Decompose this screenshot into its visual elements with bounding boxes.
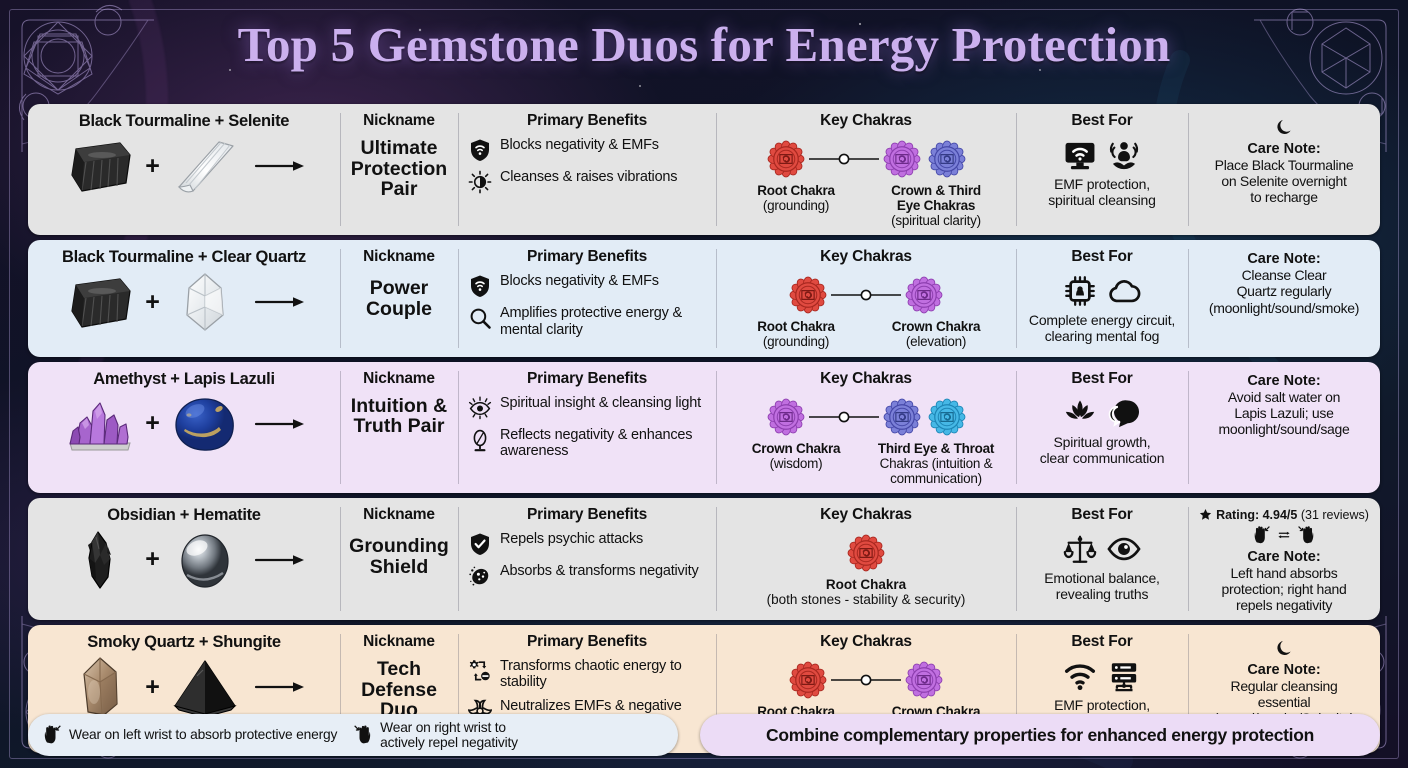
nickname-value: UltimateProtectionPair (346, 138, 452, 200)
wifi-icon (1063, 659, 1097, 693)
chakras-header: Key Chakras (722, 370, 1010, 388)
benefits-header: Primary Benefits (464, 370, 710, 388)
chakra-diagram (722, 135, 1010, 183)
radiant-eye-icon (468, 396, 492, 420)
duo-title: Amethyst + Lapis Lazuli (34, 370, 334, 389)
duo-rows: Black Tourmaline + Selenite + Nickname U… (28, 104, 1380, 758)
benefit-text: Blocks negativity & EMFs (500, 137, 659, 153)
lotus-icon (1063, 396, 1097, 430)
benefit-text: Reflects negativity & enhances awareness (500, 427, 710, 459)
benefit-item: Transforms chaotic energy to stability (464, 658, 710, 690)
root-chakra-icon (765, 138, 807, 180)
gem-obsidian (62, 529, 138, 591)
crown-chakra-icon (903, 274, 945, 316)
chakra-label-left: Root Chakra(grounding) (726, 183, 866, 228)
crown-chakra-icon (881, 138, 923, 180)
footer-cta: Combine complementary properties for enh… (700, 714, 1380, 756)
sponge-icon (468, 564, 492, 588)
moon-icon (1275, 639, 1294, 658)
radiant-eye-icon (468, 396, 492, 420)
best-for-text: EMF protection,spiritual cleansing (1022, 177, 1182, 209)
best-for-header: Best For (1022, 370, 1182, 388)
arrow-right-icon (254, 294, 306, 310)
benefit-item: Blocks negativity & EMFs (464, 273, 710, 298)
server-icon (1107, 659, 1141, 693)
moon-icon (1275, 118, 1294, 137)
chakra-connector (829, 673, 903, 687)
stone-pair: + (34, 393, 334, 455)
crown-chakra-icon (903, 659, 945, 701)
root-chakra-icon (787, 659, 829, 701)
care-note: Care Note: Avoid salt water onLapis Lazu… (1194, 370, 1374, 437)
page-title: Top 5 Gemstone Duos for Energy Protectio… (0, 16, 1408, 73)
duo-cell-care-note: Care Note: Cleanse ClearQuartz regularly… (1188, 240, 1380, 356)
benefit-text: Absorbs & transforms negativity (500, 563, 699, 579)
sponge-icon (468, 564, 492, 588)
care-note-text: Place Black Tourmalineon Selenite overni… (1194, 157, 1374, 205)
gem-hematite (167, 529, 243, 591)
root-chakra-icon (765, 138, 807, 180)
benefit-text: Cleanses & raises vibrations (500, 169, 677, 185)
benefit-text: Spiritual insight & cleansing light (500, 395, 701, 411)
chakra-label-left: Root Chakra(grounding) (726, 319, 866, 349)
duo-cell-best-for: Best For EMF protection,spiritual cleans… (1016, 104, 1188, 235)
footer-tips: Wear on left wrist to absorb protective … (28, 714, 678, 756)
arrow-right-icon (254, 158, 306, 174)
chakra-labels: Root Chakra(grounding) Crown Chakra(elev… (722, 319, 1010, 349)
care-note-label: Care Note: (1194, 662, 1374, 678)
care-note-text: Left hand absorbsprotection; right handr… (1194, 565, 1374, 613)
benefit-item: Absorbs & transforms negativity (464, 563, 710, 588)
best-for-text: Emotional balance,revealing truths (1022, 571, 1182, 603)
care-note-label: Care Note: (1194, 373, 1374, 389)
footer: Wear on left wrist to absorb protective … (28, 714, 1380, 756)
benefit-item: Spiritual insight & cleansing light (464, 395, 710, 420)
infographic-canvas: Top 5 Gemstone Duos for Energy Protectio… (0, 0, 1408, 768)
care-icons (1194, 635, 1374, 661)
care-note-label: Care Note: (1194, 549, 1374, 565)
moon-icon (1275, 118, 1294, 137)
duo-cell-care-note: Rating: 4.94/5 (31 reviews) Care Note: L… (1188, 498, 1380, 620)
arrow-right-icon (254, 552, 306, 568)
rating-badge: Rating: 4.94/5 (31 reviews) (1194, 508, 1374, 522)
duo-cell-chakras: Key Chakras (716, 362, 1016, 493)
third-eye-chakra-icon (881, 396, 923, 438)
gem-shungite (167, 656, 243, 718)
footer-tip-right: Wear on right wrist toactively repel neg… (353, 720, 518, 750)
shield-check-icon (468, 532, 492, 556)
chakra-group-right (881, 396, 968, 438)
chakras-header: Key Chakras (722, 633, 1010, 651)
chakras-header: Key Chakras (722, 112, 1010, 130)
chakras-header: Key Chakras (722, 248, 1010, 266)
mirror-icon (468, 428, 492, 452)
nickname-header: Nickname (346, 506, 452, 524)
duo-cell-nickname: Nickname GroundingShield (340, 498, 458, 620)
root-chakra-icon (787, 659, 829, 701)
benefit-text: Repels psychic attacks (500, 531, 643, 547)
benefit-item: Amplifies protective energy & mental cla… (464, 305, 710, 337)
stone-pair: + (34, 656, 334, 718)
nickname-value: Intuition &Truth Pair (346, 396, 452, 437)
best-for-text: Spiritual growth,clear communication (1022, 435, 1182, 467)
duo-cell-nickname: Nickname UltimateProtectionPair (340, 104, 458, 235)
gem-smoky-quartz (62, 656, 138, 718)
hand-right-icon (1297, 525, 1316, 544)
arrow-right-icon (254, 679, 306, 695)
nickname-header: Nickname (346, 370, 452, 388)
footer-tip-right-text: Wear on right wrist toactively repel neg… (380, 720, 518, 750)
nickname-value: GroundingShield (346, 536, 452, 577)
shield-wifi-icon (468, 274, 492, 298)
duo-cell-chakras: Key Chakras Root Chakra(both stones - st… (716, 498, 1016, 620)
benefits-header: Primary Benefits (464, 112, 710, 130)
benefit-text: Transforms chaotic energy to stability (500, 658, 710, 690)
nickname-header: Nickname (346, 248, 452, 266)
hand-right-icon (353, 724, 373, 746)
plus-sign: + (145, 154, 160, 179)
chakra-label-right: Crown Chakra(elevation) (866, 319, 1006, 349)
duo-title: Smoky Quartz + Shungite (34, 633, 334, 652)
crown-chakra-icon (765, 396, 807, 438)
crown-chakra-icon (903, 274, 945, 316)
gem-amethyst (62, 393, 138, 455)
eye-icon (1107, 532, 1141, 566)
care-note-label: Care Note: (1194, 251, 1374, 267)
best-for-text: Complete energy circuit,clearing mental … (1022, 313, 1182, 345)
third-eye-chakra-icon (881, 396, 923, 438)
best-for-icons (1022, 393, 1182, 433)
shield-wifi-icon (468, 138, 492, 162)
arrow-right-icon (254, 416, 306, 432)
magnifier-icon (468, 306, 492, 330)
benefit-item: Reflects negativity & enhances awareness (464, 427, 710, 459)
duo-cell-best-for: Best For Spiritual growth,clear communic… (1016, 362, 1188, 493)
best-for-icons (1022, 529, 1182, 569)
chakra-connector (807, 410, 881, 424)
duo-row: Obsidian + Hematite + Nickname Grounding… (28, 498, 1380, 620)
exchange-icon (1277, 528, 1291, 542)
chakra-connector (807, 152, 881, 166)
chakra-connector (829, 288, 903, 302)
duo-cell-benefits: Primary Benefits Blocks negativity & EMF… (458, 104, 716, 235)
hand-left-icon (1252, 525, 1271, 546)
chakra-group-right (903, 274, 945, 316)
footer-cta-text: Combine complementary properties for enh… (766, 725, 1314, 746)
nickname-header: Nickname (346, 112, 452, 130)
plus-sign: + (145, 411, 160, 436)
stone-pair: + (34, 271, 334, 333)
chakra-group-right (881, 138, 968, 180)
duo-row: Black Tourmaline + Selenite + Nickname U… (28, 104, 1380, 235)
care-icons (1194, 114, 1374, 140)
duo-cell-chakras: Key Chakras Root Cha (716, 240, 1016, 356)
gem-lapis-lazuli (167, 393, 243, 455)
care-note: Rating: 4.94/5 (31 reviews) Care Note: L… (1194, 506, 1374, 613)
care-icons (1194, 522, 1374, 548)
footer-tip-left: Wear on left wrist to absorb protective … (42, 724, 337, 746)
root-chakra-icon (845, 532, 887, 574)
magnifier-icon (468, 306, 492, 330)
duo-cell-chakras: Key Chakras (716, 104, 1016, 235)
duo-cell-nickname: Nickname Intuition &Truth Pair (340, 362, 458, 493)
benefit-item: Blocks negativity & EMFs (464, 137, 710, 162)
gem-clear-quartz (167, 271, 243, 333)
benefits-header: Primary Benefits (464, 248, 710, 266)
chakra-diagram (722, 656, 1010, 704)
care-note-text: Avoid salt water onLapis Lazuli; usemoon… (1194, 389, 1374, 437)
benefit-text: Blocks negativity & EMFs (500, 273, 659, 289)
gem-selenite (167, 135, 243, 197)
cloud-icon (1107, 274, 1141, 308)
meditation-icon (1107, 138, 1141, 172)
duo-cell-care-note: Care Note: Avoid salt water onLapis Lazu… (1188, 362, 1380, 493)
footer-tip-left-text: Wear on left wrist to absorb protective … (69, 727, 337, 742)
benefit-text: Amplifies protective energy & mental cla… (500, 305, 710, 337)
best-for-icons (1022, 135, 1182, 175)
care-note-label: Care Note: (1194, 141, 1374, 157)
duo-cell-stones: Black Tourmaline + Selenite + (28, 104, 340, 235)
mirror-icon (468, 428, 492, 452)
nickname-header: Nickname (346, 633, 452, 651)
care-note: Care Note: Cleanse ClearQuartz regularly… (1194, 248, 1374, 315)
stone-pair: + (34, 135, 334, 197)
benefits-header: Primary Benefits (464, 506, 710, 524)
chakra-diagram (722, 393, 1010, 441)
benefits-header: Primary Benefits (464, 633, 710, 651)
gem-black-tourmaline (62, 271, 138, 333)
star-icon (1199, 508, 1212, 521)
gem-black-tourmaline (62, 135, 138, 197)
chakra-label-right: Crown & ThirdEye Chakras(spiritual clari… (866, 183, 1006, 228)
duo-cell-benefits: Primary Benefits Blocks negativity & EMF… (458, 240, 716, 356)
chakra-diagram (722, 271, 1010, 319)
plus-sign: + (145, 675, 160, 700)
duo-row: Amethyst + Lapis Lazuli + Nickname Intui… (28, 362, 1380, 493)
benefit-item: Repels psychic attacks (464, 531, 710, 556)
throat-chakra-icon (926, 396, 968, 438)
care-note-text: Cleanse ClearQuartz regularly(moonlight/… (1194, 267, 1374, 315)
duo-cell-stones: Obsidian + Hematite + (28, 498, 340, 620)
hand-left-icon (1252, 525, 1271, 544)
duo-title: Black Tourmaline + Clear Quartz (34, 248, 334, 267)
crown-chakra-icon (903, 659, 945, 701)
duo-cell-care-note: Care Note: Place Black Tourmalineon Sele… (1188, 104, 1380, 235)
duo-cell-best-for: Best For Emotional balance,revealing tru… (1016, 498, 1188, 620)
gear-transform-icon (468, 659, 492, 683)
chakra-label-left: Crown Chakra(wisdom) (726, 441, 866, 486)
speech-bubbles-icon (1107, 396, 1141, 430)
care-note: Care Note: Regular cleansingessential(so… (1194, 633, 1374, 726)
shield-check-icon (468, 532, 492, 556)
stone-pair: + (34, 529, 334, 591)
chakra-label-right: Third Eye & ThroatChakras (intuition &co… (866, 441, 1006, 486)
root-chakra-icon (787, 274, 829, 316)
third-eye-chakra-icon (926, 138, 968, 180)
throat-chakra-icon (926, 396, 968, 438)
scales-icon (1063, 532, 1097, 566)
chakras-header: Key Chakras (722, 506, 1010, 524)
third-eye-chakra-icon (926, 138, 968, 180)
duo-title: Obsidian + Hematite (34, 506, 334, 525)
root-chakra-icon (845, 532, 887, 574)
nickname-value: PowerCouple (346, 278, 452, 319)
moon-icon (1275, 639, 1294, 658)
benefit-item: Cleanses & raises vibrations (464, 169, 710, 194)
duo-cell-best-for: Best For Complete energy circuit,clearin… (1016, 240, 1188, 356)
best-for-header: Best For (1022, 112, 1182, 130)
duo-row: Black Tourmaline + Clear Quartz + Nickna… (28, 240, 1380, 356)
star-icon (1199, 508, 1212, 521)
crown-chakra-icon (765, 396, 807, 438)
duo-cell-benefits: Primary Benefits Spiritual insight & cle… (458, 362, 716, 493)
care-note: Care Note: Place Black Tourmalineon Sele… (1194, 112, 1374, 205)
duo-title: Black Tourmaline + Selenite (34, 112, 334, 131)
chakra-labels: Crown Chakra(wisdom) Third Eye & ThroatC… (722, 441, 1010, 486)
best-for-header: Best For (1022, 506, 1182, 524)
exchange-icon (1277, 528, 1291, 542)
plus-sign: + (145, 290, 160, 315)
chakra-label: Root Chakra(both stones - stability & se… (722, 577, 1010, 608)
brightness-icon (468, 170, 492, 194)
best-for-header: Best For (1022, 248, 1182, 266)
duo-cell-stones: Black Tourmaline + Clear Quartz + (28, 240, 340, 356)
chakra-labels: Root Chakra(grounding) Crown & ThirdEye … (722, 183, 1010, 228)
gear-transform-icon (468, 659, 492, 683)
shield-wifi-icon (468, 138, 492, 162)
monitor-wifi-icon (1063, 138, 1097, 172)
crown-chakra-icon (881, 138, 923, 180)
hand-left-icon (42, 724, 62, 746)
best-for-icons (1022, 656, 1182, 696)
plus-sign: + (145, 547, 160, 572)
chakra-group-right (903, 659, 945, 701)
duo-cell-nickname: Nickname PowerCouple (340, 240, 458, 356)
shield-wifi-icon (468, 274, 492, 298)
hand-right-icon (1297, 525, 1316, 546)
rating-text: Rating: 4.94/5 (31 reviews) (1216, 508, 1369, 522)
nickname-value: TechDefenseDuo (346, 659, 452, 721)
duo-cell-benefits: Primary Benefits Repels psychic attacks … (458, 498, 716, 620)
root-chakra-icon (787, 274, 829, 316)
chip-icon (1063, 274, 1097, 308)
chakra-diagram (722, 529, 1010, 577)
brightness-icon (468, 170, 492, 194)
duo-cell-stones: Amethyst + Lapis Lazuli + (28, 362, 340, 493)
best-for-icons (1022, 271, 1182, 311)
best-for-header: Best For (1022, 633, 1182, 651)
